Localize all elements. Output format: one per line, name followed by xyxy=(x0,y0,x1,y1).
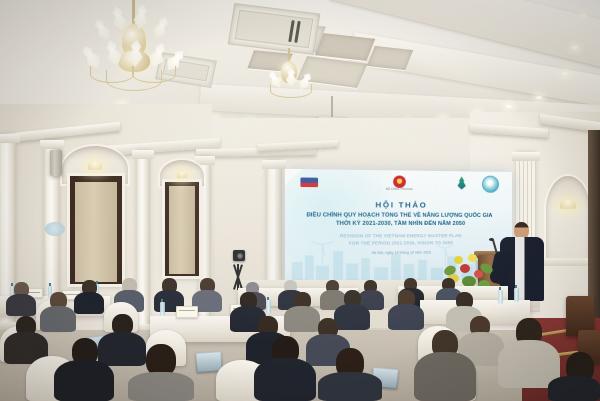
pilaster-capital xyxy=(40,140,64,149)
logo-caption: BỘ CÔNG THƯƠNG xyxy=(386,188,413,191)
table-nameplate xyxy=(176,306,198,318)
microphone-icon xyxy=(489,238,494,241)
recessed-downlight xyxy=(562,72,568,75)
wall-sconce xyxy=(560,200,576,209)
water-bottle xyxy=(514,288,519,302)
chandelier-leaf-shade xyxy=(89,15,116,44)
chandelier-small xyxy=(258,48,338,118)
audience-shoulders xyxy=(548,376,600,401)
audience-shoulders xyxy=(254,358,316,401)
audience-shoulders xyxy=(74,292,104,314)
doorway-curtain xyxy=(169,186,195,274)
audience-shoulders xyxy=(318,372,382,401)
arched-doorway xyxy=(165,182,199,276)
recessed-downlight xyxy=(572,46,578,49)
wall-sconce xyxy=(88,162,102,170)
pilaster-capital xyxy=(132,150,154,159)
slide-title-en-line2: FOR THE PERIOD 2021-2030, VISION TO 2050 xyxy=(285,240,512,247)
pilaster-capital xyxy=(0,134,20,143)
slide-heading: HỘI THẢO xyxy=(285,200,512,210)
recessed-downlight xyxy=(536,96,542,99)
circular-teal-partner-logo xyxy=(482,176,499,193)
vietnam-national-emblem-logo: BỘ CÔNG THƯƠNG xyxy=(393,176,406,188)
wall-sconce xyxy=(177,172,187,178)
slide-title-vi-line2: THỜI KỲ 2021-2030, TẦM NHÌN ĐẾN NĂM 2050 xyxy=(285,221,512,228)
water-bottle xyxy=(498,290,503,304)
national-emblem-icon xyxy=(393,176,406,188)
recessed-downlight xyxy=(506,105,512,108)
water-bottle xyxy=(160,302,165,316)
chandelier-large xyxy=(60,0,250,120)
arched-doorway xyxy=(70,176,122,284)
audience-shoulders xyxy=(414,352,476,401)
recessed-downlight xyxy=(580,14,586,17)
flower-red xyxy=(474,270,483,278)
chandelier-arm xyxy=(106,70,162,91)
audience-shoulders xyxy=(128,372,194,401)
column-capital xyxy=(512,152,540,161)
conference-hall-photograph: BỘ CÔNG THƯƠNG HỘI THẢO ĐIỀU CHỈNH QUY H… xyxy=(0,0,600,401)
audience-shoulders xyxy=(40,306,76,332)
ministry-partner-logo xyxy=(300,178,318,188)
chandelier-leaf-shade xyxy=(148,13,174,42)
wall-plaque xyxy=(45,222,65,236)
laptop-screen xyxy=(196,352,221,372)
doorway-curtain xyxy=(75,182,117,282)
slide-title-vi-line1: ĐIỀU CHỈNH QUY HOẠCH TỔNG THỂ VỀ NĂNG LƯ… xyxy=(285,212,512,220)
audience-shoulders xyxy=(54,360,114,401)
audience-shoulders xyxy=(98,332,146,366)
water-bottle xyxy=(266,300,271,314)
video-camera xyxy=(233,250,245,261)
niche-ledge xyxy=(544,258,594,266)
flower-yellow xyxy=(454,256,463,264)
wall-mounted-speaker xyxy=(50,150,62,176)
slide-logo-row: BỘ CÔNG THƯƠNG xyxy=(285,172,512,194)
flower-yellow xyxy=(468,254,477,262)
audience-shoulders xyxy=(388,304,424,330)
wall-pilaster xyxy=(266,160,282,290)
audience-shoulders xyxy=(334,304,370,330)
audience-shoulders xyxy=(6,294,36,316)
audience-shoulders xyxy=(284,306,320,332)
slide-title-en-line1: REVISION OF THE VIETNAM ENERGY MASTER PL… xyxy=(285,233,512,240)
ceiling-coffer-panel xyxy=(367,46,413,70)
pilaster-capital xyxy=(262,160,286,169)
arched-niche xyxy=(546,176,590,262)
video-camera-on-tripod xyxy=(231,250,245,290)
chandelier-arm xyxy=(270,84,312,98)
camera-lens-icon xyxy=(237,253,243,259)
green-energy-partner-logo xyxy=(456,176,468,189)
flower-red xyxy=(460,264,470,273)
